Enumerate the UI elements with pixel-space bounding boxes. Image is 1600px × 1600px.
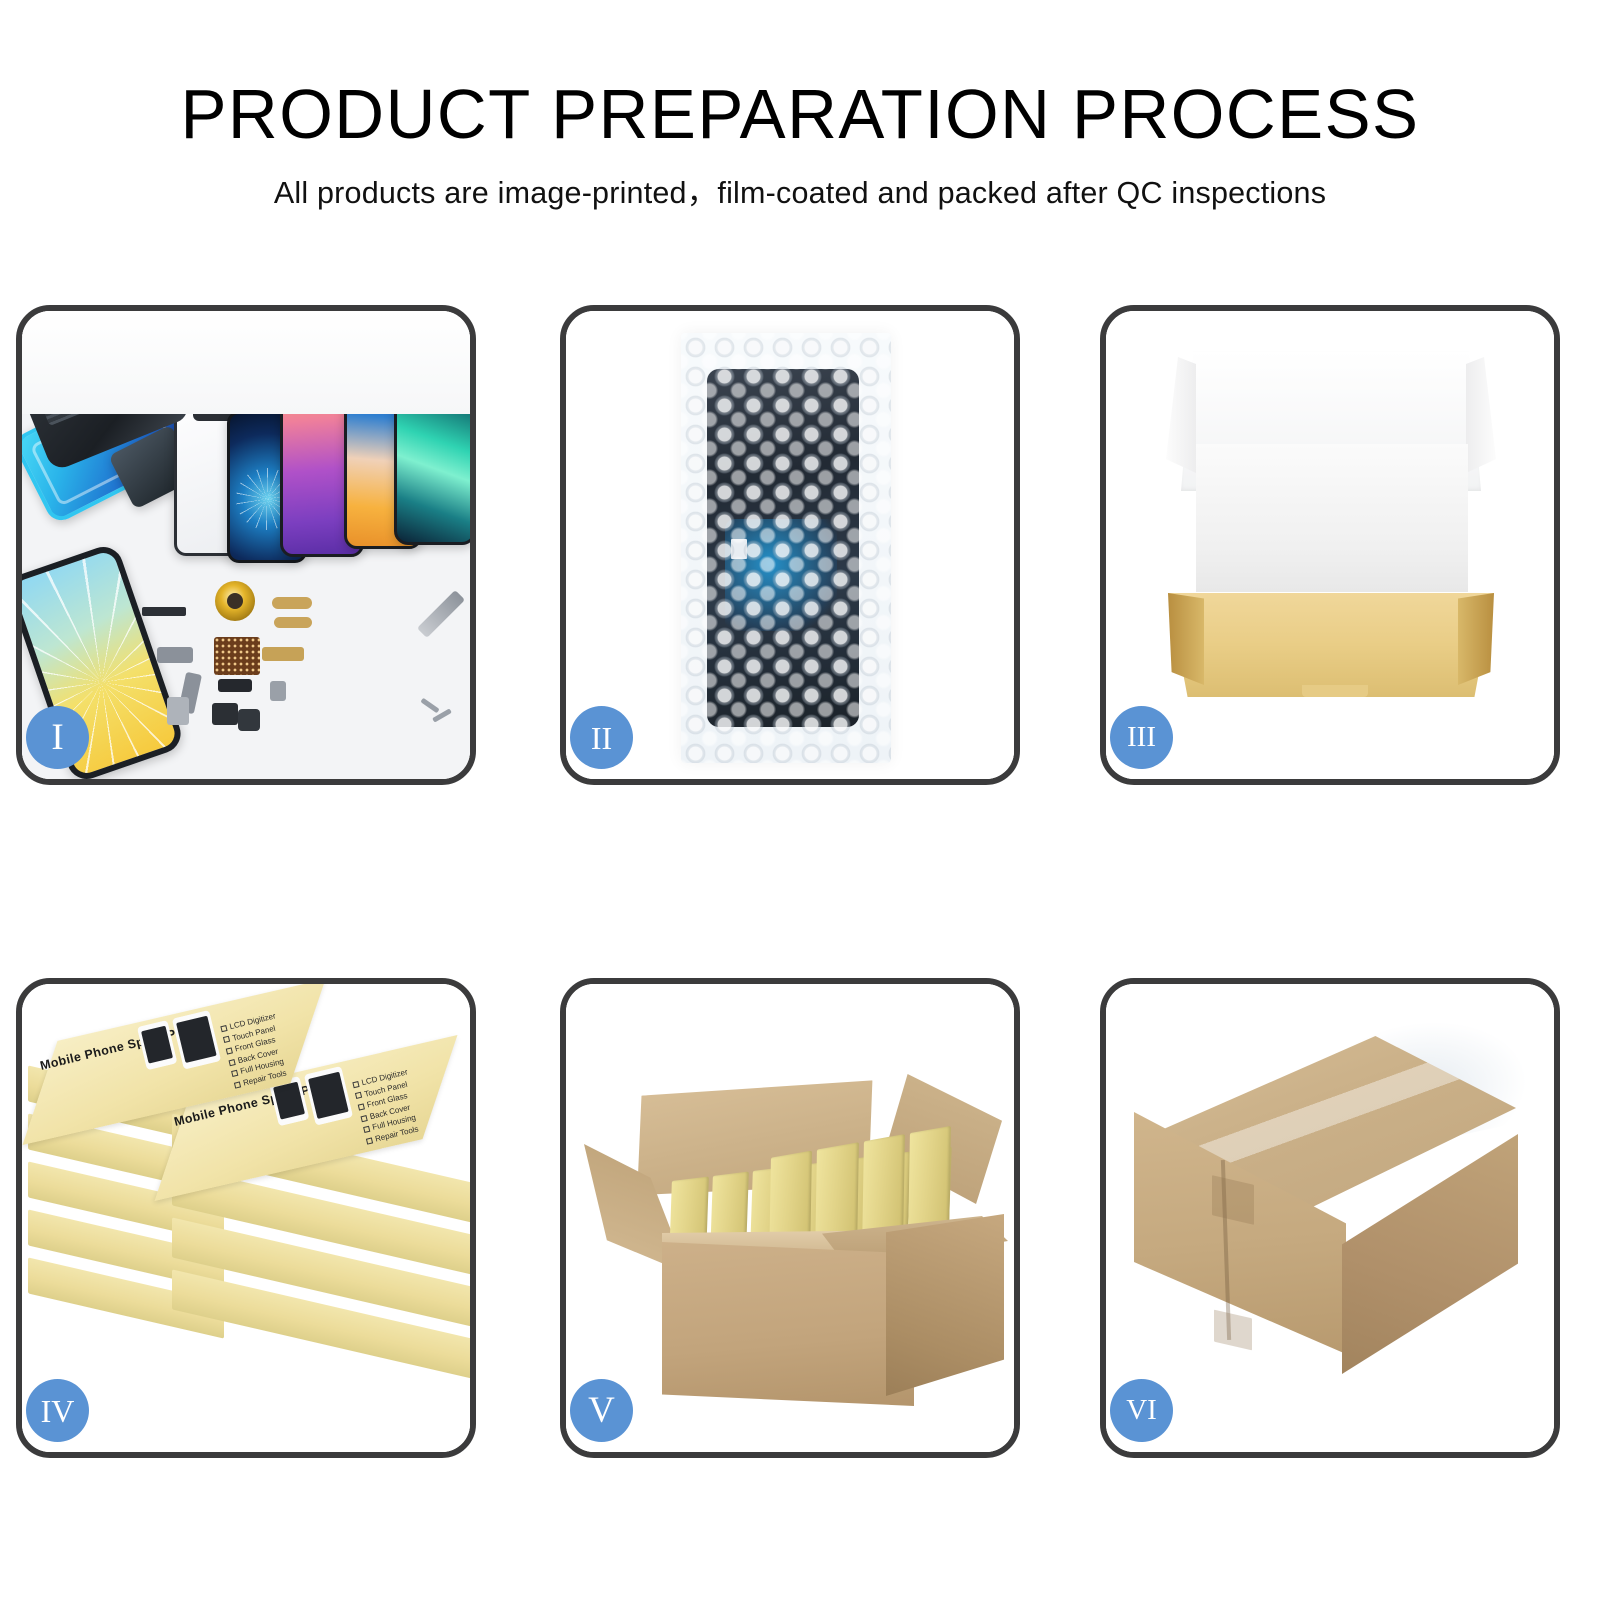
step-3-image [1106,311,1554,779]
step-badge-4: IV [26,1379,89,1442]
box-tray-left [1168,593,1204,685]
box-interior [1196,444,1468,592]
carton-front-face [662,1242,914,1406]
checkbox-icon [366,1137,373,1144]
checkbox-icon [355,1092,362,1099]
green-phone-part [394,359,470,545]
checkbox-icon [220,1025,227,1032]
carton-side-face [886,1214,1004,1396]
checkbox-icon [360,1115,367,1122]
box-tray-front [1168,593,1494,697]
step-badge-2: II [570,706,633,769]
page-root: PRODUCT PREPARATION PROCESS All products… [0,0,1600,1600]
box-lid-flap-right [1466,357,1496,473]
step-6-image [1106,984,1554,1452]
box-tray-right [1458,593,1494,685]
wireless-coil-part [215,581,255,621]
carton-tape-patch [1214,1310,1252,1351]
component-part [142,607,186,616]
component-part [167,697,189,725]
process-step-panel-2[interactable]: II [560,305,1020,785]
component-part [157,647,193,663]
bubble-texture-offset [681,333,891,763]
component-part [212,703,238,725]
parts-assortment-illustration [22,311,470,779]
step-badge-3: III [1110,706,1173,769]
step-4-image: Mobile Phone Spare Parts LCD Digitizer T… [22,984,470,1452]
component-part [272,597,312,609]
component-part [238,709,260,731]
checkbox-icon [231,1070,238,1077]
checkbox-icon [363,1126,370,1133]
step-badge-1: I [26,706,89,769]
stacked-retail-boxes-illustration: Mobile Phone Spare Parts LCD Digitizer T… [22,984,470,1452]
checkbox-icon [358,1103,365,1110]
page-title: PRODUCT PREPARATION PROCESS [12,0,1588,152]
step-badge-6: VI [1110,1379,1173,1442]
retail-box-stack: Mobile Phone Spare Parts LCD Digitizer T… [22,984,470,1452]
checkbox-icon [223,1036,230,1043]
page-subtitle: All products are image-printed，film-coat… [0,152,1600,212]
component-part [270,681,286,701]
box-lid-flap-left [1166,357,1196,473]
process-step-panel-5[interactable]: V [560,978,1020,1458]
process-step-panel-4[interactable]: Mobile Phone Spare Parts LCD Digitizer T… [16,978,476,1458]
checkbox-icon [352,1081,359,1088]
process-step-grid: I II [16,305,1584,1455]
step-5-image [566,984,1014,1452]
open-shipping-carton-illustration [566,984,1014,1452]
process-step-panel-1[interactable]: I [16,305,476,785]
bubble-wrapped-screen-illustration [566,311,1014,779]
header: PRODUCT PREPARATION PROCESS All products… [0,0,1600,212]
step-1-image [22,311,470,779]
process-step-panel-6[interactable]: VI [1100,978,1560,1458]
checkbox-icon [234,1081,241,1088]
ic-chip-part [214,637,260,675]
step-badge-5: V [570,1379,633,1442]
component-part [274,617,312,628]
bubble-wrap-pouch [681,333,891,763]
step-2-image [566,311,1014,779]
checkbox-icon [226,1047,233,1054]
component-part [262,647,304,661]
screw-part [420,698,439,714]
sealed-shipping-carton-illustration [1106,984,1554,1452]
box-tray-tab [1302,685,1368,697]
process-step-panel-3[interactable]: III [1100,305,1560,785]
component-part [218,679,252,692]
open-mailer-box-illustration [1106,311,1554,779]
repair-tool-part [417,590,465,638]
checkbox-icon [228,1059,235,1066]
